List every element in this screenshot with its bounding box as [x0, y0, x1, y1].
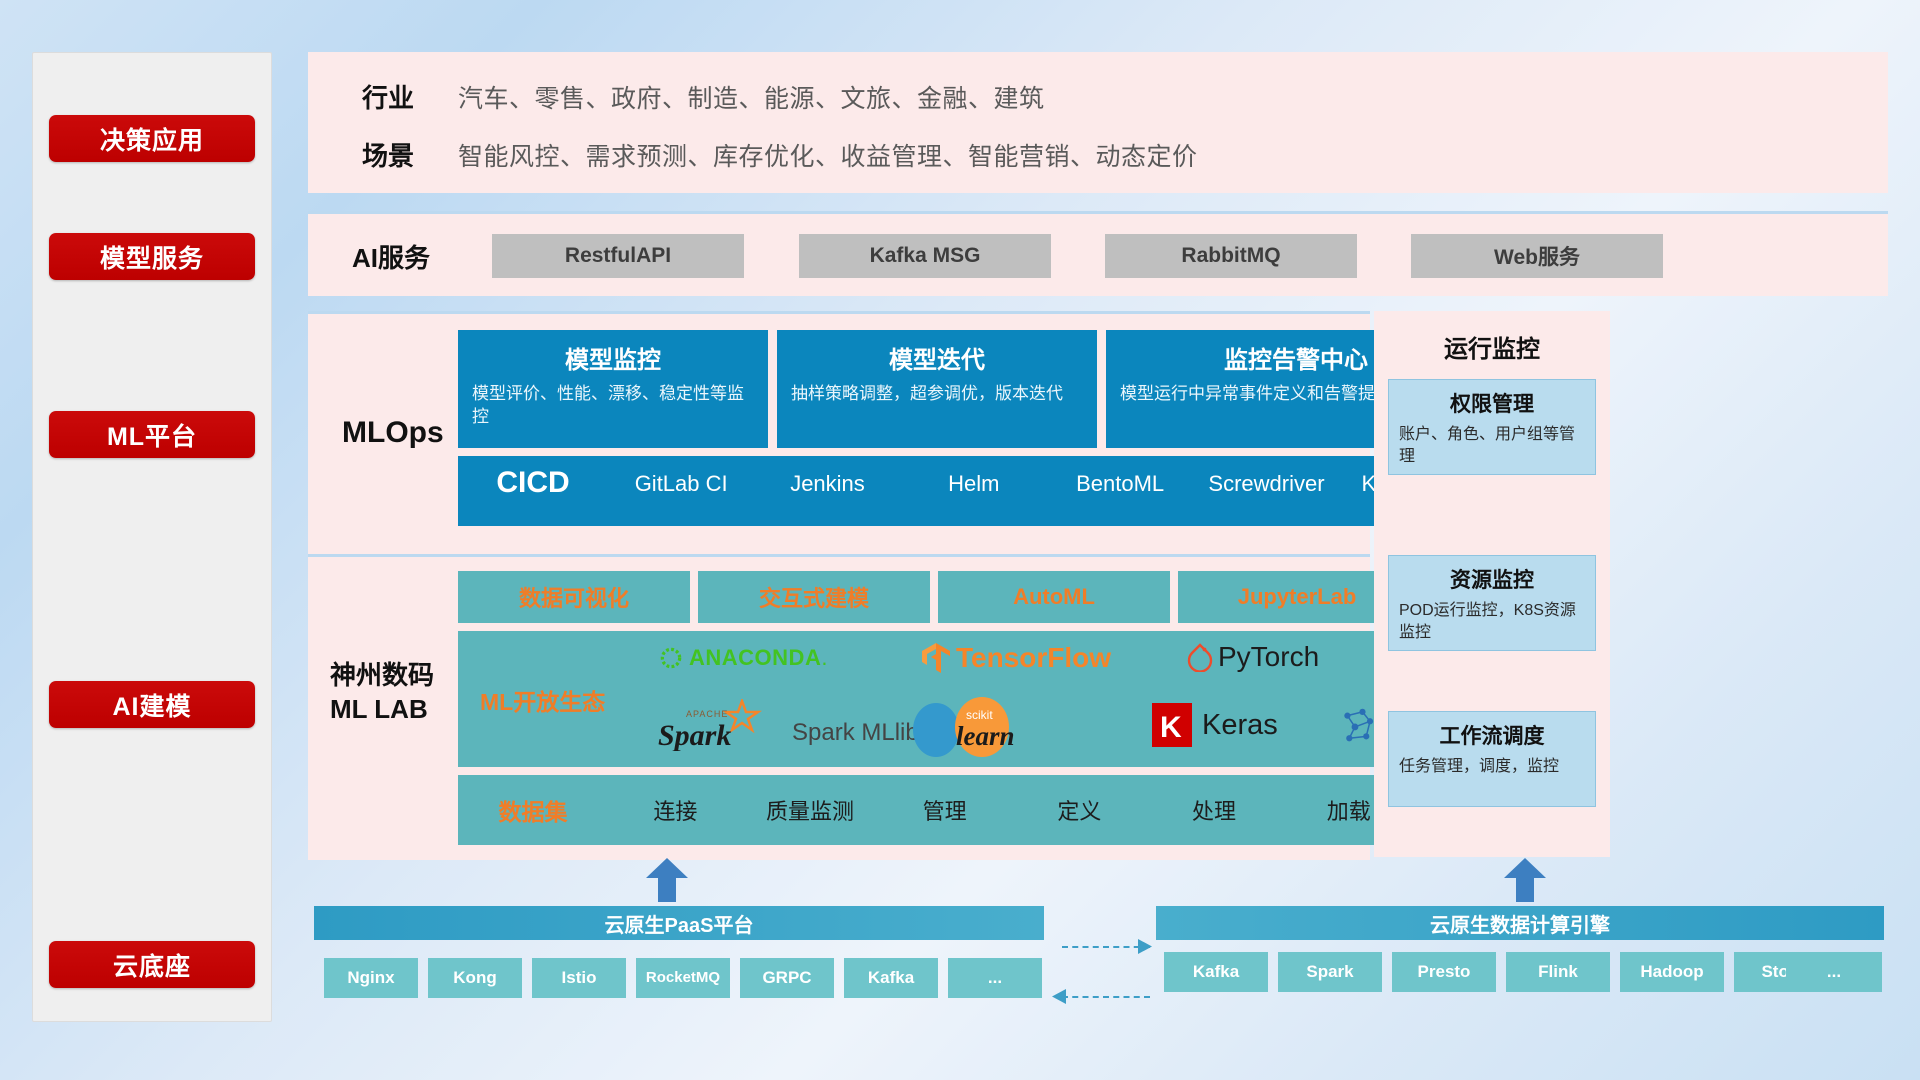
mlops-card-title: 模型迭代 [791, 340, 1083, 375]
monitoring-column: 运行监控 权限管理 账户、角色、用户组等管理 资源监控 POD运行监控，K8S资… [1374, 311, 1610, 857]
compute-chip-presto[interactable]: Presto [1392, 952, 1496, 992]
left-rail: 决策应用 模型服务 ML平台 AI建模 云底座 [32, 52, 272, 1022]
ml-lab-label-line2: ML LAB [330, 693, 434, 727]
dataset-bar: 数据集 连接 质量监测 管理 定义 处理 加载 [458, 775, 1416, 845]
sidebar-item-ai-modeling[interactable]: AI建模 [49, 681, 255, 728]
ml-ecosystem-panel: ML开放生态 ANACONDA . TensorFlow [458, 631, 1416, 767]
ai-service-label: AI服务 [352, 238, 430, 275]
mllib-logo-text: Spark MLlib [792, 719, 919, 747]
cloud-compute-header: 云原生数据计算引擎 [1156, 906, 1884, 940]
anaconda-logo: ANACONDA . [658, 645, 827, 671]
cicd-title: CICD [458, 456, 608, 500]
sidebar-item-decision-application[interactable]: 决策应用 [49, 115, 255, 162]
scenario-row-text: 智能风控、需求预测、库存优化、收益管理、智能营销、动态定价 [458, 137, 1198, 173]
ai-service-chip-rabbitmq[interactable]: RabbitMQ [1105, 234, 1357, 278]
tensorflow-logo-text: TensorFlow [956, 642, 1111, 674]
tensorflow-icon [920, 641, 952, 675]
keras-logo: K Keras [1150, 701, 1278, 749]
arrow-up-paas-icon [644, 856, 690, 902]
svg-text:APACHE: APACHE [686, 709, 728, 719]
mlops-card-title: 模型监控 [472, 340, 754, 375]
monitoring-card-title: 工作流调度 [1399, 720, 1585, 750]
cloud-chip-istio[interactable]: Istio [532, 958, 626, 998]
ai-service-chip-web-service[interactable]: Web服务 [1411, 234, 1663, 278]
pytorch-icon [1186, 642, 1214, 672]
svg-text:K: K [1160, 711, 1182, 744]
sidebar-item-cloud-foundation[interactable]: 云底座 [49, 941, 255, 988]
lab-tab-data-visualization[interactable]: 数据可视化 [458, 571, 690, 623]
svg-text:learn: learn [956, 721, 1015, 751]
ml-lab-label: 神州数码 ML LAB [330, 659, 434, 727]
cicd-item-gitlab-ci[interactable]: GitLab CI [608, 456, 754, 498]
dash-arrow-right-icon [1138, 938, 1154, 955]
spark-mllib-logo: APACHE Spark Spark MLlib [658, 699, 919, 751]
mlops-card-desc: 抽样策略调整，超参调优，版本迭代 [791, 383, 1083, 406]
tensorflow-logo: TensorFlow [920, 641, 1111, 675]
compute-chip-hadoop[interactable]: Hadoop [1620, 952, 1724, 992]
sidebar-item-label: AI建模 [112, 687, 191, 723]
monitoring-card-title: 资源监控 [1399, 564, 1585, 594]
cloud-chip-grpc[interactable]: GRPC [740, 958, 834, 998]
ml-lab-label-line1: 神州数码 [330, 659, 434, 693]
svg-text:scikit: scikit [966, 708, 993, 722]
mlops-band: MLOps 模型监控 模型评价、性能、漂移、稳定性等监控 模型迭代 抽样策略调整… [308, 311, 1370, 557]
cicd-item-jenkins[interactable]: Jenkins [754, 456, 900, 498]
anaconda-logo-text: ANACONDA [689, 645, 821, 671]
architecture-diagram: 决策应用 模型服务 ML平台 AI建模 云底座 行业 汽车、零售、政府、制造、能… [0, 0, 1920, 1080]
dash-connector-right [1062, 946, 1150, 948]
compute-chip-spark[interactable]: Spark [1278, 952, 1382, 992]
mlops-card-desc: 模型评价、性能、漂移、稳定性等监控 [472, 383, 754, 429]
cloud-chip-more-left[interactable]: ... [948, 958, 1042, 998]
lab-tab-automl[interactable]: AutoML [938, 571, 1170, 623]
sidebar-item-label: 模型服务 [100, 239, 204, 275]
cloud-chip-kong[interactable]: Kong [428, 958, 522, 998]
decision-application-band: 行业 汽车、零售、政府、制造、能源、文旅、金融、建筑 场景 智能风控、需求预测、… [308, 52, 1888, 193]
compute-chip-flink[interactable]: Flink [1506, 952, 1610, 992]
sidebar-item-ml-platform[interactable]: ML平台 [49, 411, 255, 458]
lab-tab-interactive-modeling[interactable]: 交互式建模 [698, 571, 930, 623]
dataset-title: 数据集 [458, 793, 608, 827]
dataset-item-process[interactable]: 处理 [1147, 794, 1282, 826]
scikit-learn-icon: scikit learn [910, 697, 1050, 759]
mlops-card-model-monitor[interactable]: 模型监控 模型评价、性能、漂移、稳定性等监控 [458, 330, 768, 448]
dataset-item-quality-monitor[interactable]: 质量监测 [743, 794, 878, 826]
arrow-up-compute-icon [1502, 856, 1548, 902]
monitoring-title: 运行监控 [1374, 329, 1610, 364]
monitoring-card-desc: POD运行监控，K8S资源监控 [1399, 600, 1585, 643]
industry-row-text: 汽车、零售、政府、制造、能源、文旅、金融、建筑 [458, 79, 1045, 115]
ml-ecosystem-label: ML开放生态 [480, 683, 605, 717]
dash-arrow-left-icon [1050, 988, 1066, 1005]
ai-service-band: AI服务 RestfulAPI Kafka MSG RabbitMQ Web服务 [308, 211, 1888, 296]
monitoring-card-desc: 账户、角色、用户组等管理 [1399, 424, 1585, 467]
sidebar-item-label: 决策应用 [100, 121, 204, 157]
industry-row-label: 行业 [362, 78, 414, 115]
dataset-item-manage[interactable]: 管理 [877, 794, 1012, 826]
mlops-label: MLOps [342, 416, 444, 450]
sidebar-item-model-service[interactable]: 模型服务 [49, 233, 255, 280]
cicd-item-screwdriver[interactable]: Screwdriver [1193, 456, 1339, 498]
compute-chip-kafka[interactable]: Kafka [1164, 952, 1268, 992]
mlops-card-model-iteration[interactable]: 模型迭代 抽样策略调整，超参调优，版本迭代 [777, 330, 1097, 448]
monitoring-card-title: 权限管理 [1399, 388, 1585, 418]
cicd-bar: CICD GitLab CI Jenkins Helm BentoML Scre… [458, 456, 1486, 526]
monitoring-card-desc: 任务管理，调度，监控 [1399, 756, 1585, 778]
keras-logo-text: Keras [1202, 709, 1278, 742]
compute-chip-more-right[interactable]: ... [1786, 952, 1882, 992]
cicd-item-bentoml[interactable]: BentoML [1047, 456, 1193, 498]
monitoring-card-permission[interactable]: 权限管理 账户、角色、用户组等管理 [1388, 379, 1596, 475]
monitoring-card-resource[interactable]: 资源监控 POD运行监控，K8S资源监控 [1388, 555, 1596, 651]
keras-icon: K [1150, 701, 1194, 749]
monitoring-card-workflow[interactable]: 工作流调度 任务管理，调度，监控 [1388, 711, 1596, 807]
dataset-item-define[interactable]: 定义 [1012, 794, 1147, 826]
cloud-paas-header: 云原生PaaS平台 [314, 906, 1044, 940]
ml-lab-band: 神州数码 ML LAB 数据可视化 交互式建模 AutoML JupyterLa… [308, 554, 1370, 860]
sidebar-item-label: 云底座 [113, 947, 191, 983]
cicd-item-helm[interactable]: Helm [901, 456, 1047, 498]
cloud-chip-kafka[interactable]: Kafka [844, 958, 938, 998]
sidebar-item-label: ML平台 [107, 417, 197, 453]
pytorch-logo: PyTorch [1186, 641, 1319, 673]
dataset-item-connect[interactable]: 连接 [608, 794, 743, 826]
ai-service-chip-kafka-msg[interactable]: Kafka MSG [799, 234, 1051, 278]
spark-icon: APACHE Spark [658, 699, 788, 751]
scikit-learn-logo: scikit learn [910, 697, 1050, 759]
svg-text:Spark: Spark [658, 719, 731, 751]
ai-service-chip-restfulapi[interactable]: RestfulAPI [492, 234, 744, 278]
pytorch-logo-text: PyTorch [1218, 641, 1319, 673]
dash-connector-left [1062, 996, 1150, 998]
cloud-chip-rocketmq[interactable]: RocketMQ [636, 958, 730, 998]
scenario-row-label: 场景 [362, 136, 414, 173]
anaconda-icon [658, 645, 684, 671]
cloud-chip-nginx[interactable]: Nginx [324, 958, 418, 998]
